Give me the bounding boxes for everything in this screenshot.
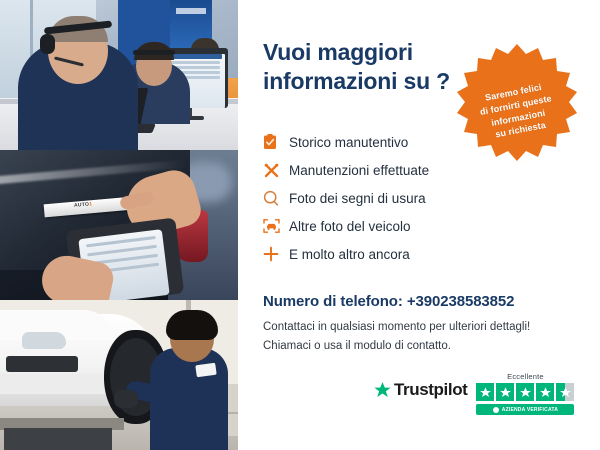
car-headlight: [22, 332, 66, 349]
list-item-label: E molto altro ancora: [289, 247, 410, 262]
verified-label: AZIENDA VERIFICATA: [502, 407, 558, 413]
promo-card: AUTO1: [0, 0, 600, 450]
feature-list: Storico manutentivo Manutenzioni effettu…: [263, 128, 513, 268]
plus-icon: [263, 244, 289, 264]
verified-check-icon: [493, 407, 499, 413]
car-bumper: [0, 374, 112, 394]
contact-note: Contattaci in qualsiasi momento per ulte…: [263, 318, 563, 355]
list-item: Manutenzioni effettuate: [263, 156, 513, 184]
agent-two-headset: [133, 50, 175, 55]
verified-badge: AZIENDA VERIFICATA: [476, 404, 574, 415]
trustpilot-logo: Trustpilot: [373, 380, 467, 400]
page-title: Vuoi maggiori informazioni su ?: [263, 38, 473, 96]
trustpilot-rating: Eccellente: [476, 372, 574, 415]
star-filled: [476, 383, 494, 401]
inspection-photo: AUTO1: [0, 150, 238, 300]
star-half: [556, 383, 574, 401]
info-panel: Vuoi maggiori informazioni su ? Saremo f…: [238, 0, 600, 450]
contact-note-line-1: Contattaci in qualsiasi momento per ulte…: [263, 318, 563, 337]
vehicle-lift-base: [4, 428, 112, 450]
star-rating: [476, 383, 574, 401]
rating-label: Eccellente: [476, 372, 574, 381]
star-filled: [516, 383, 534, 401]
photo-column: AUTO1: [0, 0, 238, 450]
list-item: Altre foto del veicolo: [263, 212, 513, 240]
star-filled: [536, 383, 554, 401]
phone-number[interactable]: Numero di telefono: +390238583852: [263, 293, 514, 310]
list-item: Foto dei segni di usura: [263, 184, 513, 212]
garage-photo: [0, 300, 238, 450]
car-grille: [6, 356, 78, 372]
agent-one-headset-cup: [40, 34, 55, 54]
list-item-label: Storico manutentivo: [289, 135, 408, 150]
trustpilot-star-icon: [373, 381, 392, 400]
mechanic-hair: [166, 310, 218, 340]
list-item-label: Foto dei segni di usura: [289, 191, 426, 206]
list-item-label: Altre foto del veicolo: [289, 219, 411, 234]
checklist-icon: [263, 132, 289, 152]
list-item-label: Manutenzioni effettuate: [289, 163, 429, 178]
trustpilot-widget[interactable]: Trustpilot Eccellente: [373, 372, 574, 415]
star-filled: [496, 383, 514, 401]
contact-note-line-2: Chiamaci o usa il modulo di contatto.: [263, 337, 563, 356]
car-focus-icon: [263, 216, 289, 236]
tools-cross-icon: [263, 160, 289, 180]
call-center-photo: [0, 0, 238, 150]
list-item: E molto altro ancora: [263, 240, 513, 268]
trustpilot-wordmark: Trustpilot: [394, 380, 467, 400]
magnifier-icon: [263, 188, 289, 208]
list-item: Storico manutentivo: [263, 128, 513, 156]
mechanic-glove: [114, 390, 138, 408]
